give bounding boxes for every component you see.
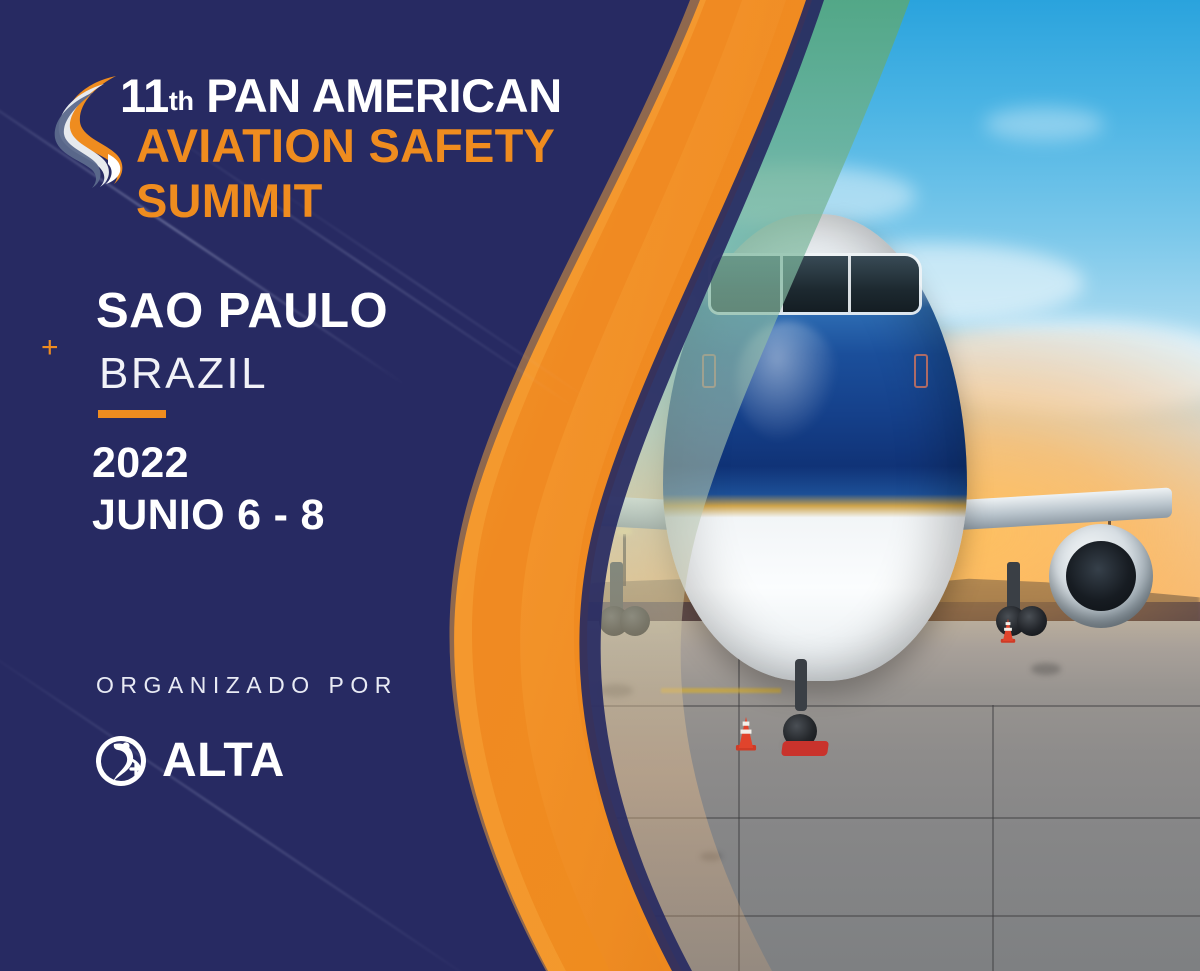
city-name: SAO PAULO bbox=[96, 287, 388, 336]
event-dates: JUNIO 6 - 8 bbox=[92, 494, 325, 537]
info-panel: 11th PAN AMERICAN AVIATION SAFETY SUMMIT… bbox=[0, 0, 560, 971]
airliner bbox=[484, 214, 1146, 758]
cockpit-windows bbox=[711, 256, 918, 312]
fuselage-nose bbox=[663, 214, 968, 682]
country-name: BRAZIL bbox=[99, 352, 268, 396]
cone-stripe bbox=[1004, 628, 1012, 631]
title-line-1: 11th PAN AMERICAN bbox=[120, 72, 680, 119]
orange-divider-rule bbox=[98, 410, 166, 418]
event-year: 2022 bbox=[92, 442, 189, 485]
service-marking bbox=[702, 354, 716, 388]
ordinal-number: 11 bbox=[120, 69, 169, 122]
nose-highlight bbox=[736, 321, 840, 443]
wheel bbox=[620, 606, 650, 636]
wheel-chock bbox=[781, 741, 829, 756]
ordinal-suffix: th bbox=[169, 86, 194, 116]
title-line-1-rest: PAN AMERICAN bbox=[194, 69, 562, 122]
nose-gear-strut bbox=[795, 659, 807, 711]
wheel bbox=[1017, 606, 1047, 636]
main-landing-gear bbox=[610, 562, 623, 624]
cone-stripe bbox=[1005, 622, 1010, 625]
organizer-label: ORGANIZADO POR bbox=[96, 674, 398, 697]
pavement-stain bbox=[700, 852, 722, 861]
cloud bbox=[984, 107, 1104, 141]
organizer-name: ALTA bbox=[162, 737, 285, 785]
right-engine bbox=[1049, 524, 1153, 628]
event-title: 11th PAN AMERICAN AVIATION SAFETY SUMMIT bbox=[120, 72, 680, 229]
cone-stripe bbox=[742, 721, 749, 725]
main-landing-gear bbox=[1007, 562, 1020, 624]
window-mullion bbox=[780, 256, 783, 312]
plus-accent-icon: + bbox=[41, 333, 59, 363]
event-poster: 11th PAN AMERICAN AVIATION SAFETY SUMMIT… bbox=[0, 0, 1200, 971]
title-line-3: SUMMIT bbox=[120, 174, 680, 229]
organizer-logo: ALTA bbox=[90, 730, 285, 792]
cone-stripe bbox=[740, 729, 751, 733]
window-mullion bbox=[848, 256, 851, 312]
alta-globe-bird-icon bbox=[90, 730, 156, 792]
title-line-2: AVIATION SAFETY bbox=[120, 119, 680, 174]
service-marking bbox=[914, 354, 928, 388]
